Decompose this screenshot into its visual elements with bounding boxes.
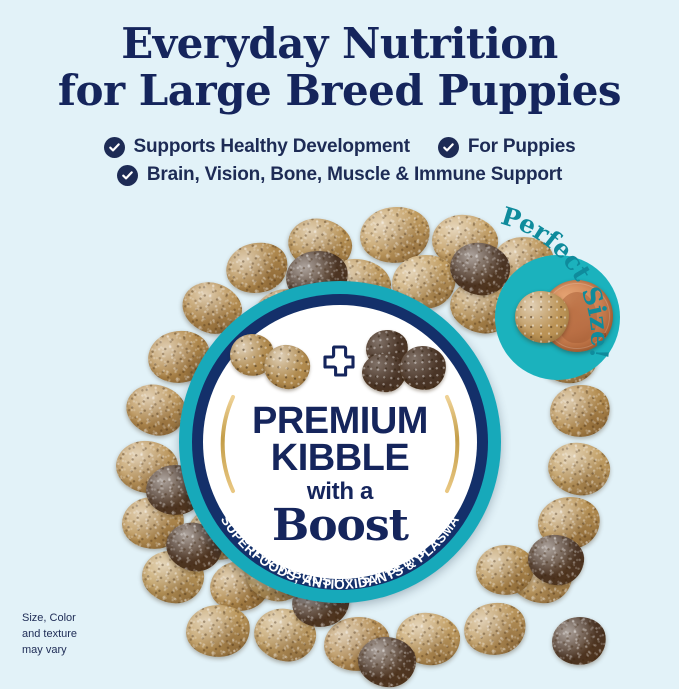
bullet-row-1: Supports Healthy Development For Puppies	[0, 136, 679, 158]
disclaimer-text: Size, Color and texture may vary	[22, 611, 77, 659]
headline-line-2: for Large Breed Puppies	[0, 69, 679, 113]
kibble-piece-tan	[459, 597, 530, 661]
perfect-size-kibble-piece	[515, 291, 569, 343]
check-circle-icon	[104, 137, 125, 158]
badge-title-premium: PREMIUM	[179, 403, 501, 439]
bullet-label: For Puppies	[468, 136, 576, 158]
bullet-supports-healthy-development: Supports Healthy Development	[104, 136, 410, 158]
badge-title-block: PREMIUM KIBBLE with a Boost	[179, 403, 501, 548]
dark-kibble-trio	[362, 330, 450, 392]
badge-kibble-illustration	[179, 325, 501, 397]
tan-kibble-pair	[230, 332, 316, 390]
bullet-label: Supports Healthy Development	[134, 136, 410, 158]
kibble-piece-tan	[546, 380, 614, 442]
plus-sign-icon	[322, 344, 356, 378]
check-circle-icon	[117, 165, 138, 186]
feature-bullet-list: Supports Healthy Development For Puppies…	[0, 136, 679, 192]
penny-year: 2008	[595, 333, 606, 339]
bullet-for-puppies: For Puppies	[438, 136, 576, 158]
bullet-brain-vision-bone-muscle-immune: Brain, Vision, Bone, Muscle & Immune Sup…	[117, 164, 562, 186]
badge-title-kibble: KIBBLE	[179, 439, 501, 477]
premium-kibble-badge: NUTRIENTBOOST™ IS A BLEND OF SUPERFOODS,…	[179, 281, 501, 603]
disclaimer-line-1: Size, Color	[22, 611, 77, 627]
kibble-piece-tan	[544, 438, 613, 499]
disclaimer-line-3: may vary	[22, 643, 77, 659]
disclaimer-line-2: and texture	[22, 627, 77, 643]
headline-line-1: Everyday Nutrition	[0, 22, 679, 66]
bullet-label: Brain, Vision, Bone, Muscle & Immune Sup…	[147, 164, 562, 186]
check-circle-icon	[438, 137, 459, 158]
badge-title-boost: Boost	[179, 504, 501, 548]
product-feature-graphic: Everyday Nutrition for Large Breed Puppi…	[0, 0, 679, 679]
dark-kibble-3	[399, 344, 448, 391]
perfect-size-badge: 2008	[495, 255, 620, 380]
bullet-row-2: Brain, Vision, Bone, Muscle & Immune Sup…	[0, 164, 679, 186]
page-title: Everyday Nutrition for Large Breed Puppi…	[0, 22, 679, 112]
kibble-piece-dark	[549, 613, 610, 669]
